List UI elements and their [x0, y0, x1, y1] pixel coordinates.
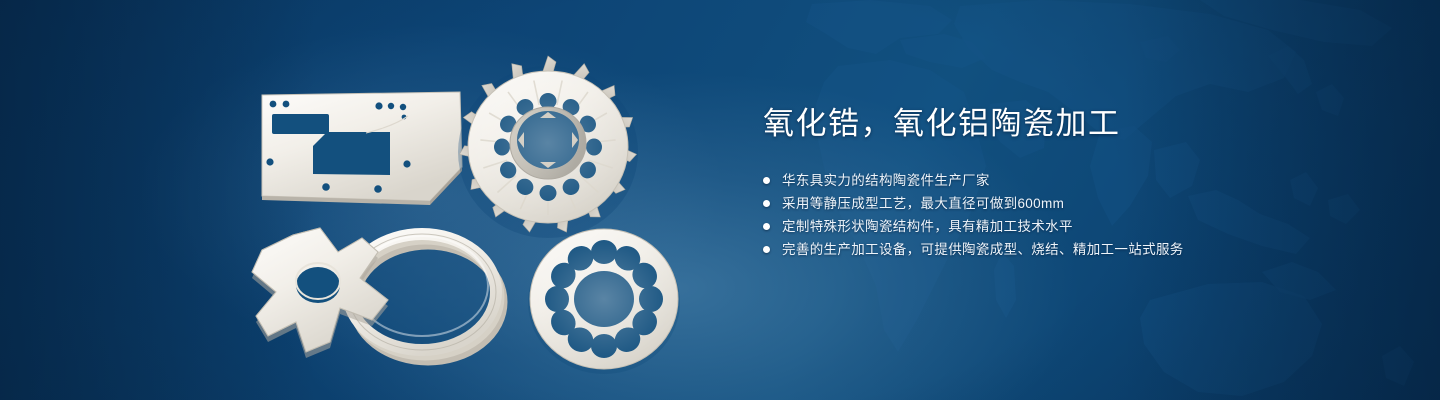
bullet-dot-icon: [763, 177, 770, 184]
ceramic-perforated-disc: [528, 229, 680, 374]
ceramic-product-photo-group: [0, 0, 740, 400]
list-item-label: 华东具实力的结构陶瓷件生产厂家: [782, 173, 990, 188]
list-item-label: 完善的生产加工设备，可提供陶瓷成型、烧结、精加工一站式服务: [782, 242, 1184, 257]
bullet-dot-icon: [763, 223, 770, 230]
list-item-label: 定制特殊形状陶瓷结构件，具有精加工技术水平: [782, 219, 1073, 234]
list-item: 华东具实力的结构陶瓷件生产厂家: [763, 173, 1403, 188]
page-title: 氧化锆，氧化铝陶瓷加工: [763, 104, 1403, 144]
ceramic-mounting-plate: [262, 92, 462, 205]
list-item: 定制特殊形状陶瓷结构件，具有精加工技术水平: [763, 219, 1403, 234]
list-item: 完善的生产加工设备，可提供陶瓷成型、烧结、精加工一站式服务: [763, 242, 1403, 257]
bullet-dot-icon: [763, 246, 770, 253]
bullet-dot-icon: [763, 200, 770, 207]
hero-banner: 氧化锆，氧化铝陶瓷加工 华东具实力的结构陶瓷件生产厂家 采用等静压成型工艺，最大…: [0, 0, 1440, 400]
ceramic-impeller-wheel: [458, 56, 638, 238]
list-item: 采用等静压成型工艺，最大直径可做到600mm: [763, 196, 1403, 211]
feature-list: 华东具实力的结构陶瓷件生产厂家 采用等静压成型工艺，最大直径可做到600mm 定…: [763, 173, 1403, 257]
list-item-label: 采用等静压成型工艺，最大直径可做到600mm: [782, 196, 1064, 211]
banner-copy: 氧化锆，氧化铝陶瓷加工 华东具实力的结构陶瓷件生产厂家 采用等静压成型工艺，最大…: [763, 104, 1403, 265]
